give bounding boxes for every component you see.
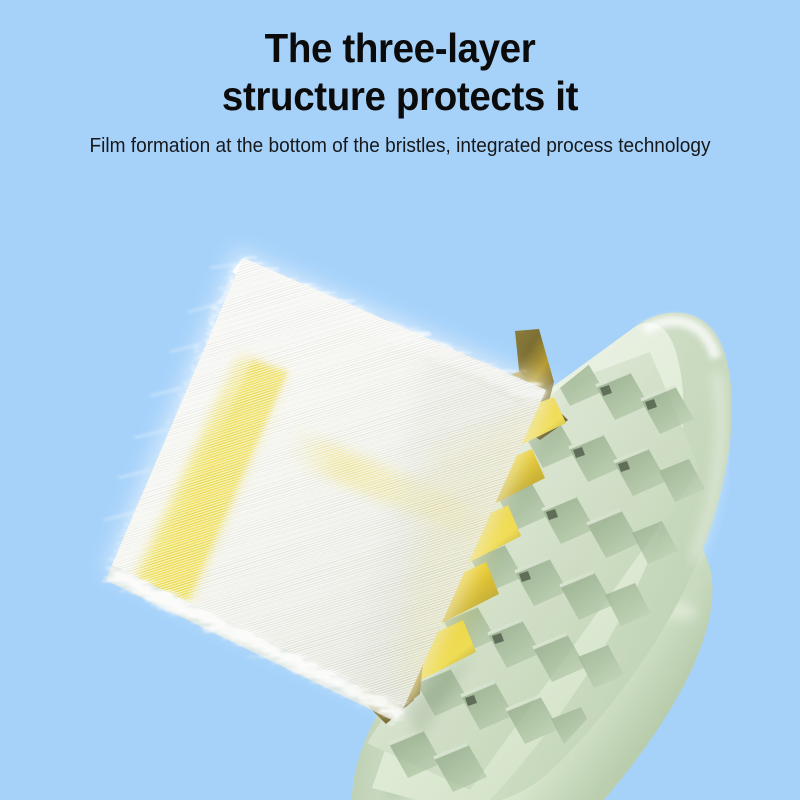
headline-line-1: The three-layer <box>265 25 536 71</box>
headline-block: The three-layer structure protects it Fi… <box>0 0 800 158</box>
page-subtitle: Film formation at the bottom of the bris… <box>47 134 754 159</box>
product-banner: The three-layer structure protects it Fi… <box>0 0 800 800</box>
headline-line-2: structure protects it <box>137 72 663 120</box>
page-title: The three-layer structure protects it <box>137 24 663 121</box>
